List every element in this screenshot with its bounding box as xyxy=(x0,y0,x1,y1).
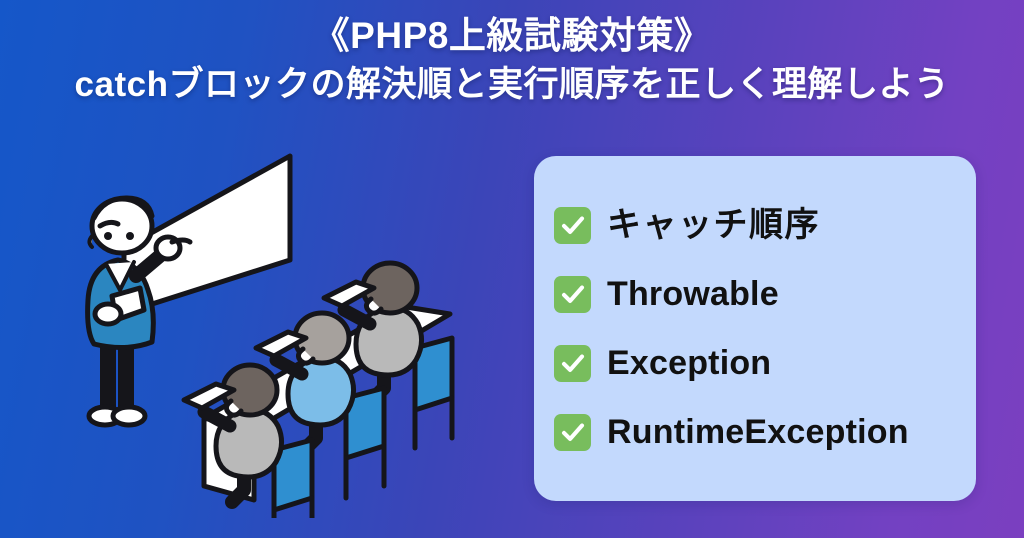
title-line-2: catchブロックの解決順と実行順序を正しく理解しよう xyxy=(0,60,1024,110)
checklist-panel: キャッチ順序 Throwable Exception xyxy=(534,156,976,501)
checklist-item-label: RuntimeException xyxy=(607,413,909,451)
checklist-item[interactable]: キャッチ順序 xyxy=(554,201,976,249)
checklist-item[interactable]: Throwable xyxy=(554,270,976,318)
checked-checkbox-icon[interactable] xyxy=(554,414,591,451)
checklist-item-label: キャッチ順序 xyxy=(607,206,820,244)
checked-checkbox-icon[interactable] xyxy=(554,345,591,382)
classroom-lecture-illustration xyxy=(78,148,498,518)
checked-checkbox-icon[interactable] xyxy=(554,207,591,244)
thumbnail-canvas: 《PHP8上級試験対策》 catchブロックの解決順と実行順序を正しく理解しよう… xyxy=(0,0,1024,538)
title-block: 《PHP8上級試験対策》 catchブロックの解決順と実行順序を正しく理解しよう xyxy=(0,12,1024,110)
checked-checkbox-icon[interactable] xyxy=(554,276,591,313)
checklist-item[interactable]: Exception xyxy=(554,339,976,387)
checklist-item-label: Exception xyxy=(607,344,771,382)
title-line-1: 《PHP8上級試験対策》 xyxy=(0,12,1024,60)
checklist-item-label: Throwable xyxy=(607,275,779,313)
checklist-item[interactable]: RuntimeException xyxy=(554,408,976,456)
